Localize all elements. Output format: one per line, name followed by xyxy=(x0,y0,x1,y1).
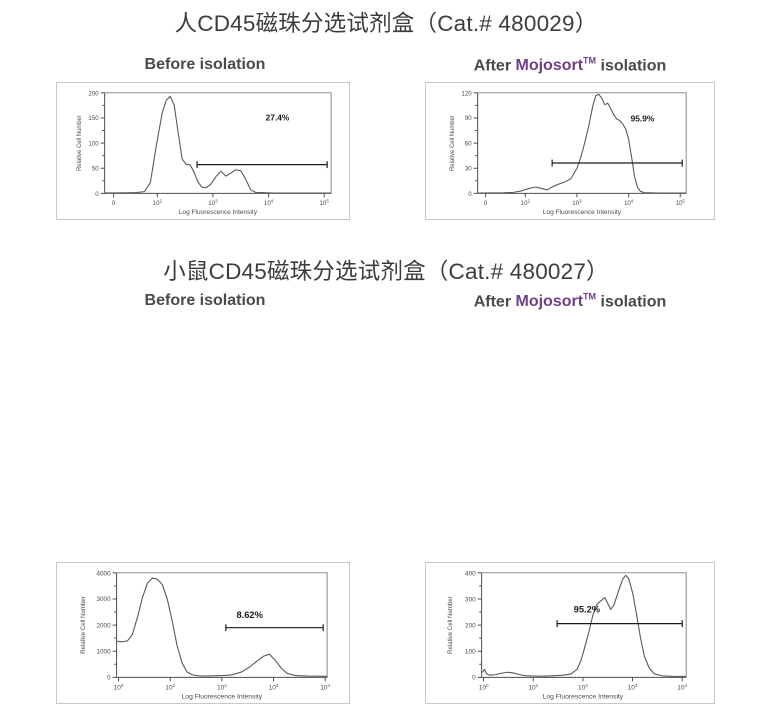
panel-heading-mouse-before: Before isolation xyxy=(55,292,355,310)
panel-heading-suffix: isolation xyxy=(596,293,666,310)
svg-text:104: 104 xyxy=(264,199,274,208)
svg-text:Log Fluorescence Intensity: Log Fluorescence Intensity xyxy=(179,209,258,216)
svg-text:102: 102 xyxy=(521,199,531,208)
brand-name-text: Mojosort xyxy=(516,57,584,74)
svg-text:Log Fluorescence Intensity: Log Fluorescence Intensity xyxy=(543,209,622,216)
chart-human-before: 0 50 100 150 200 Relative Cell Number 0 … xyxy=(56,82,350,220)
figure-section-mouse: 小鼠CD45磁珠分选试剂盒（Cat.# 480027） Before isola… xyxy=(0,246,772,494)
kit-title-mouse: 小鼠CD45磁珠分选试剂盒（Cat.# 480027） xyxy=(0,254,772,286)
svg-text:Relative Cell Number: Relative Cell Number xyxy=(77,115,83,171)
panel-heading-mouse-after: After MojosortTM isolation xyxy=(410,292,730,311)
brand-name-mojosort: MojosortTM xyxy=(516,57,597,74)
svg-text:0: 0 xyxy=(112,200,116,207)
svg-text:200: 200 xyxy=(465,622,476,629)
trademark-symbol: TM xyxy=(583,56,596,66)
svg-text:100: 100 xyxy=(114,683,124,692)
panel-heading-human-before: Before isolation xyxy=(55,56,355,74)
panel-heading-text: Before isolation xyxy=(145,292,266,309)
svg-text:Relative Cell Number: Relative Cell Number xyxy=(447,596,454,654)
svg-text:1000: 1000 xyxy=(97,649,112,656)
svg-text:105: 105 xyxy=(320,199,330,208)
kit-title-human: 人CD45磁珠分选试剂盒（Cat.# 480029） xyxy=(0,6,772,38)
svg-text:100: 100 xyxy=(479,683,489,692)
panel-heading-suffix: isolation xyxy=(596,57,666,74)
svg-text:104: 104 xyxy=(677,683,687,692)
svg-text:2000: 2000 xyxy=(97,622,112,629)
svg-text:150: 150 xyxy=(88,115,99,122)
gate-percentage-human-before: 27.4% xyxy=(266,112,290,122)
svg-text:103: 103 xyxy=(208,199,218,208)
svg-text:102: 102 xyxy=(217,683,227,692)
panel-heading-prefix: After xyxy=(474,57,516,74)
gate-percentage-mouse-before: 8.62% xyxy=(236,610,263,620)
svg-text:102: 102 xyxy=(153,199,163,208)
svg-text:101: 101 xyxy=(528,683,538,692)
svg-text:Log Fluorescence Intensity: Log Fluorescence Intensity xyxy=(543,694,624,701)
svg-text:3000: 3000 xyxy=(97,596,112,603)
svg-text:50: 50 xyxy=(92,166,99,173)
svg-text:60: 60 xyxy=(465,140,472,147)
figure-page: 人CD45磁珠分选试剂盒（Cat.# 480029） Before isolat… xyxy=(0,0,772,494)
svg-text:300: 300 xyxy=(465,596,476,603)
svg-text:4000: 4000 xyxy=(97,570,112,577)
chart-human-after: 0 30 60 90 120 Relative Cell Number 0 10… xyxy=(425,82,715,220)
brand-name-text: Mojosort xyxy=(516,293,584,310)
svg-text:103: 103 xyxy=(628,683,638,692)
svg-text:100: 100 xyxy=(465,649,476,656)
svg-text:104: 104 xyxy=(624,199,634,208)
svg-text:400: 400 xyxy=(465,570,476,577)
svg-text:0: 0 xyxy=(107,675,111,682)
brand-name-mojosort: MojosortTM xyxy=(516,293,597,310)
svg-text:200: 200 xyxy=(88,90,99,97)
panel-heading-prefix: After xyxy=(474,293,516,310)
chart-mouse-after: 0 100 200 300 400 Relative Cell Number 1… xyxy=(425,562,715,704)
svg-text:104: 104 xyxy=(320,683,330,692)
svg-text:Relative Cell Number: Relative Cell Number xyxy=(80,596,87,654)
svg-text:120: 120 xyxy=(461,90,472,97)
panel-heading-text: Before isolation xyxy=(145,56,266,73)
svg-text:102: 102 xyxy=(578,683,588,692)
svg-text:105: 105 xyxy=(676,199,686,208)
svg-text:101: 101 xyxy=(165,683,175,692)
svg-text:0: 0 xyxy=(95,191,99,198)
svg-text:30: 30 xyxy=(465,166,472,173)
svg-text:Log Fluorescence Intensity: Log Fluorescence Intensity xyxy=(182,694,263,701)
gate-percentage-mouse-after: 95.2% xyxy=(574,604,601,614)
svg-text:103: 103 xyxy=(572,199,582,208)
trademark-symbol: TM xyxy=(583,292,596,302)
svg-text:103: 103 xyxy=(269,683,279,692)
svg-text:Relative Cell Number: Relative Cell Number xyxy=(450,115,456,171)
svg-text:0: 0 xyxy=(468,191,472,198)
panel-heading-human-after: After MojosortTM isolation xyxy=(410,56,730,75)
chart-mouse-before: 0 1000 2000 3000 4000 Relative Cell Numb… xyxy=(56,562,350,704)
svg-text:0: 0 xyxy=(472,675,476,682)
svg-text:0: 0 xyxy=(484,200,488,207)
svg-text:90: 90 xyxy=(465,115,472,122)
svg-text:100: 100 xyxy=(88,140,99,147)
gate-percentage-human-after: 95.9% xyxy=(631,113,655,123)
figure-section-human: 人CD45磁珠分选试剂盒（Cat.# 480029） Before isolat… xyxy=(0,0,772,246)
